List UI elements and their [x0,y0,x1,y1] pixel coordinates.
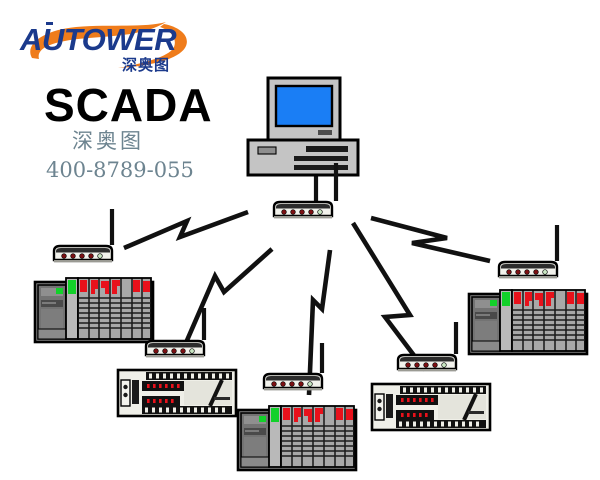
station-bottom-center[interactable] [238,343,356,470]
station-lower-left-plc[interactable] [118,370,236,416]
station-left-router[interactable] [54,209,112,262]
station-left-plc[interactable] [35,278,153,342]
link-to-station-lower-left [185,249,272,345]
link-to-station-left [124,212,248,248]
station-lower-right-plc[interactable] [372,384,490,430]
network-topology [0,0,600,480]
link-to-station-right [371,218,490,261]
station-lower-left-router[interactable] [146,308,204,357]
station-right[interactable] [469,225,587,354]
station-bottom-center-plc[interactable] [238,406,356,470]
station-right-router[interactable] [499,225,557,278]
host-computer[interactable] [248,78,358,175]
station-bottom-center-router[interactable] [264,343,322,390]
station-left[interactable] [35,209,153,342]
station-right-plc[interactable] [469,290,587,354]
monitor-screen [276,86,332,126]
diagram-canvas: AUTOWER 深奥图 SCADA 深奥图 400-8789-055 [0,0,600,480]
